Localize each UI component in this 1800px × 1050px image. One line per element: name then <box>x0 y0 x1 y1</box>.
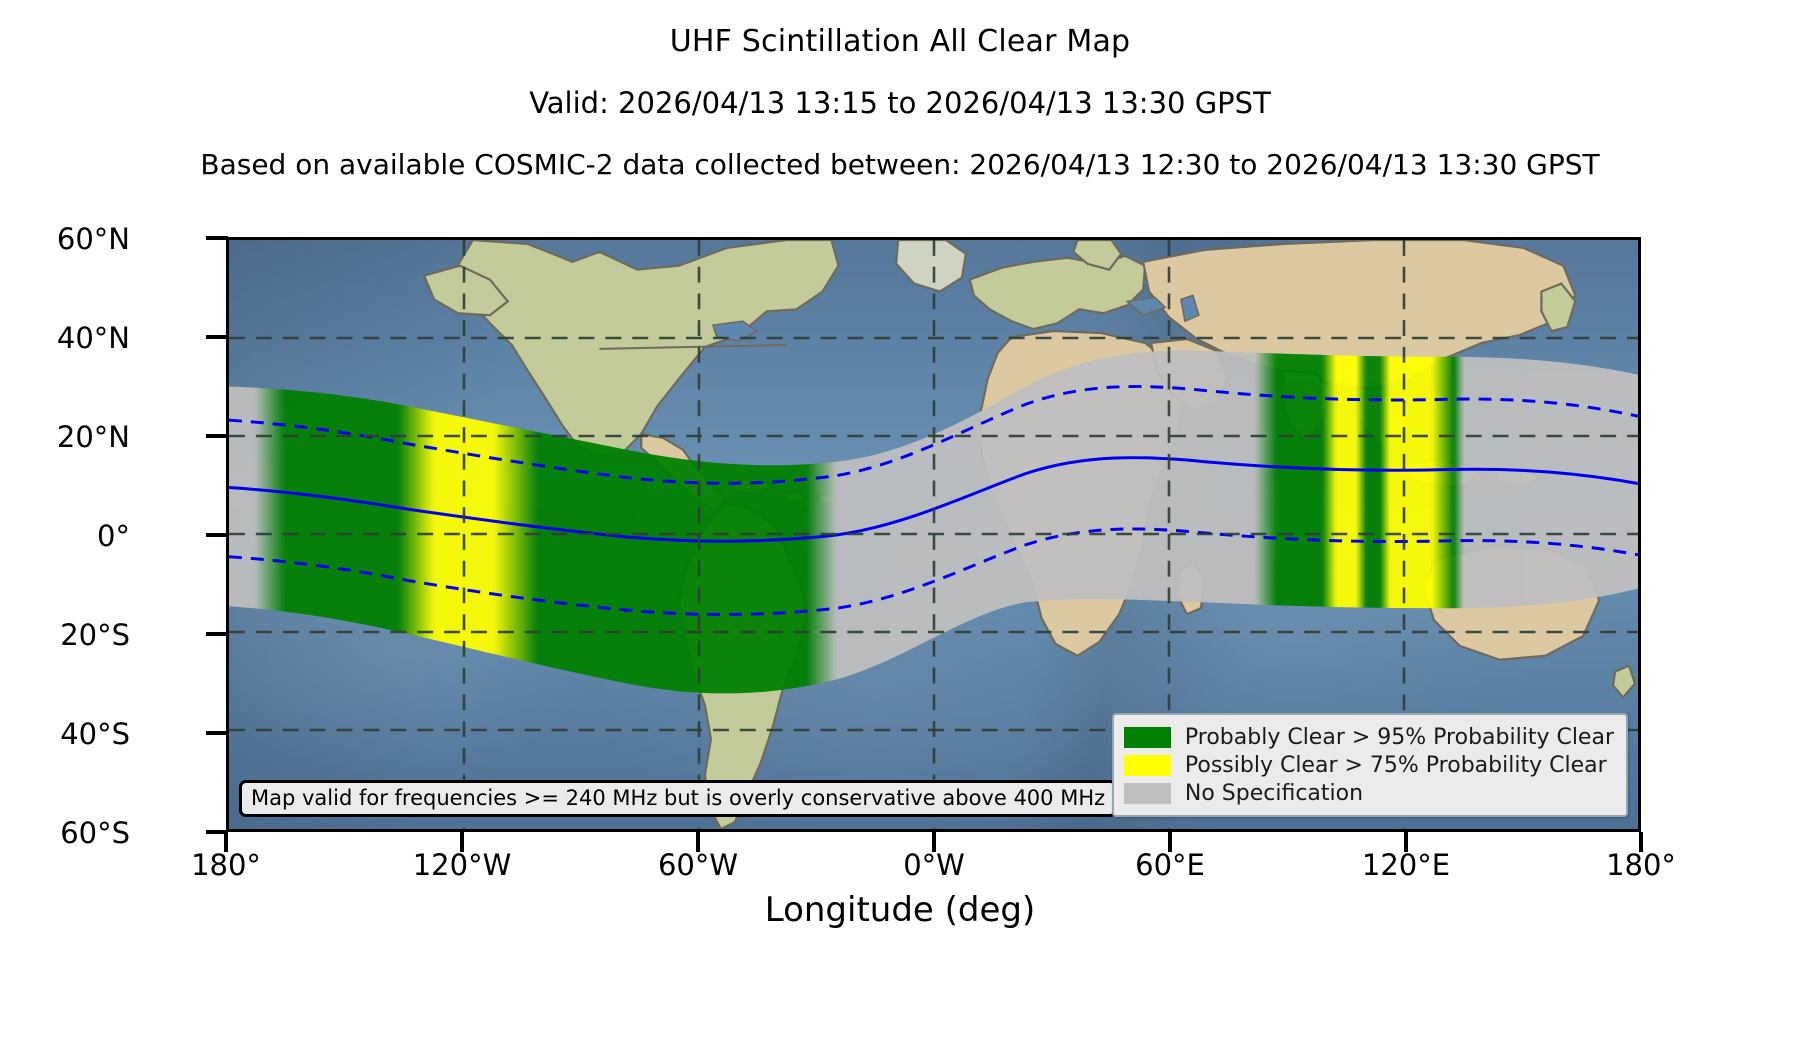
legend-item-probably-clear: Probably Clear > 95% Probability Clear <box>1124 723 1614 751</box>
legend-item-no-specification: No Specification <box>1124 779 1614 807</box>
map-figure: Map valid for frequencies >= 240 MHz but… <box>226 237 1641 832</box>
y-tickmark-20s <box>206 632 228 636</box>
x-tick-120e: 120°E <box>1362 848 1450 882</box>
legend-swatch-no-specification <box>1124 783 1171 804</box>
y-tickmark-40s <box>206 731 228 735</box>
y-tickmark-60n <box>206 236 228 240</box>
y-tick-20s: 20°S <box>60 618 130 652</box>
y-tick-20n: 20°N <box>57 420 130 454</box>
y-tick-40s: 40°S <box>60 717 130 751</box>
legend-item-possibly-clear: Possibly Clear > 75% Probability Clear <box>1124 751 1614 779</box>
data-source-text: Based on available COSMIC-2 data collect… <box>0 148 1800 181</box>
page-title: UHF Scintillation All Clear Map <box>0 24 1800 59</box>
x-tick-120w: 120°W <box>413 848 512 882</box>
x-tick-60w: 60°W <box>658 848 738 882</box>
y-tick-60n: 60°N <box>57 222 130 256</box>
x-tickmark-180w <box>224 832 228 852</box>
legend-label-probably-clear: Probably Clear > 95% Probability Clear <box>1185 725 1614 750</box>
y-tickmark-0 <box>206 533 228 537</box>
title-block: UHF Scintillation All Clear Map Valid: 2… <box>0 0 1800 181</box>
valid-time-text: Valid: 2026/04/13 13:15 to 2026/04/13 13… <box>0 86 1800 120</box>
y-tick-0: 0° <box>97 519 130 553</box>
validity-note-box: Map valid for frequencies >= 240 MHz but… <box>239 780 1117 817</box>
x-tick-180e: 180° <box>1606 848 1676 882</box>
y-tick-40n: 40°N <box>57 321 130 355</box>
legend-swatch-possibly-clear <box>1124 755 1171 776</box>
y-tick-60s: 60°S <box>60 816 130 850</box>
x-tickmark-180e <box>1639 832 1643 852</box>
x-axis-label: Longitude (deg) <box>0 890 1800 930</box>
map-legend: Probably Clear > 95% Probability Clear P… <box>1112 713 1628 817</box>
legend-swatch-probably-clear <box>1124 727 1171 748</box>
legend-label-no-specification: No Specification <box>1185 781 1363 806</box>
plot-frame: Map valid for frequencies >= 240 MHz but… <box>226 237 1641 832</box>
validity-note-text: Map valid for frequencies >= 240 MHz but… <box>251 786 1105 810</box>
x-tickmark-60e <box>1168 832 1172 852</box>
x-tick-60e: 60°E <box>1135 848 1205 882</box>
x-tick-180w: 180° <box>191 848 261 882</box>
x-tickmark-0 <box>932 832 936 852</box>
legend-label-possibly-clear: Possibly Clear > 75% Probability Clear <box>1185 753 1607 778</box>
x-tickmark-120e <box>1404 832 1408 852</box>
x-tickmark-120w <box>460 832 464 852</box>
x-tick-0: 0°W <box>903 848 965 882</box>
y-tickmark-40n <box>206 335 228 339</box>
y-tickmark-20n <box>206 434 228 438</box>
x-tickmark-60w <box>696 832 700 852</box>
